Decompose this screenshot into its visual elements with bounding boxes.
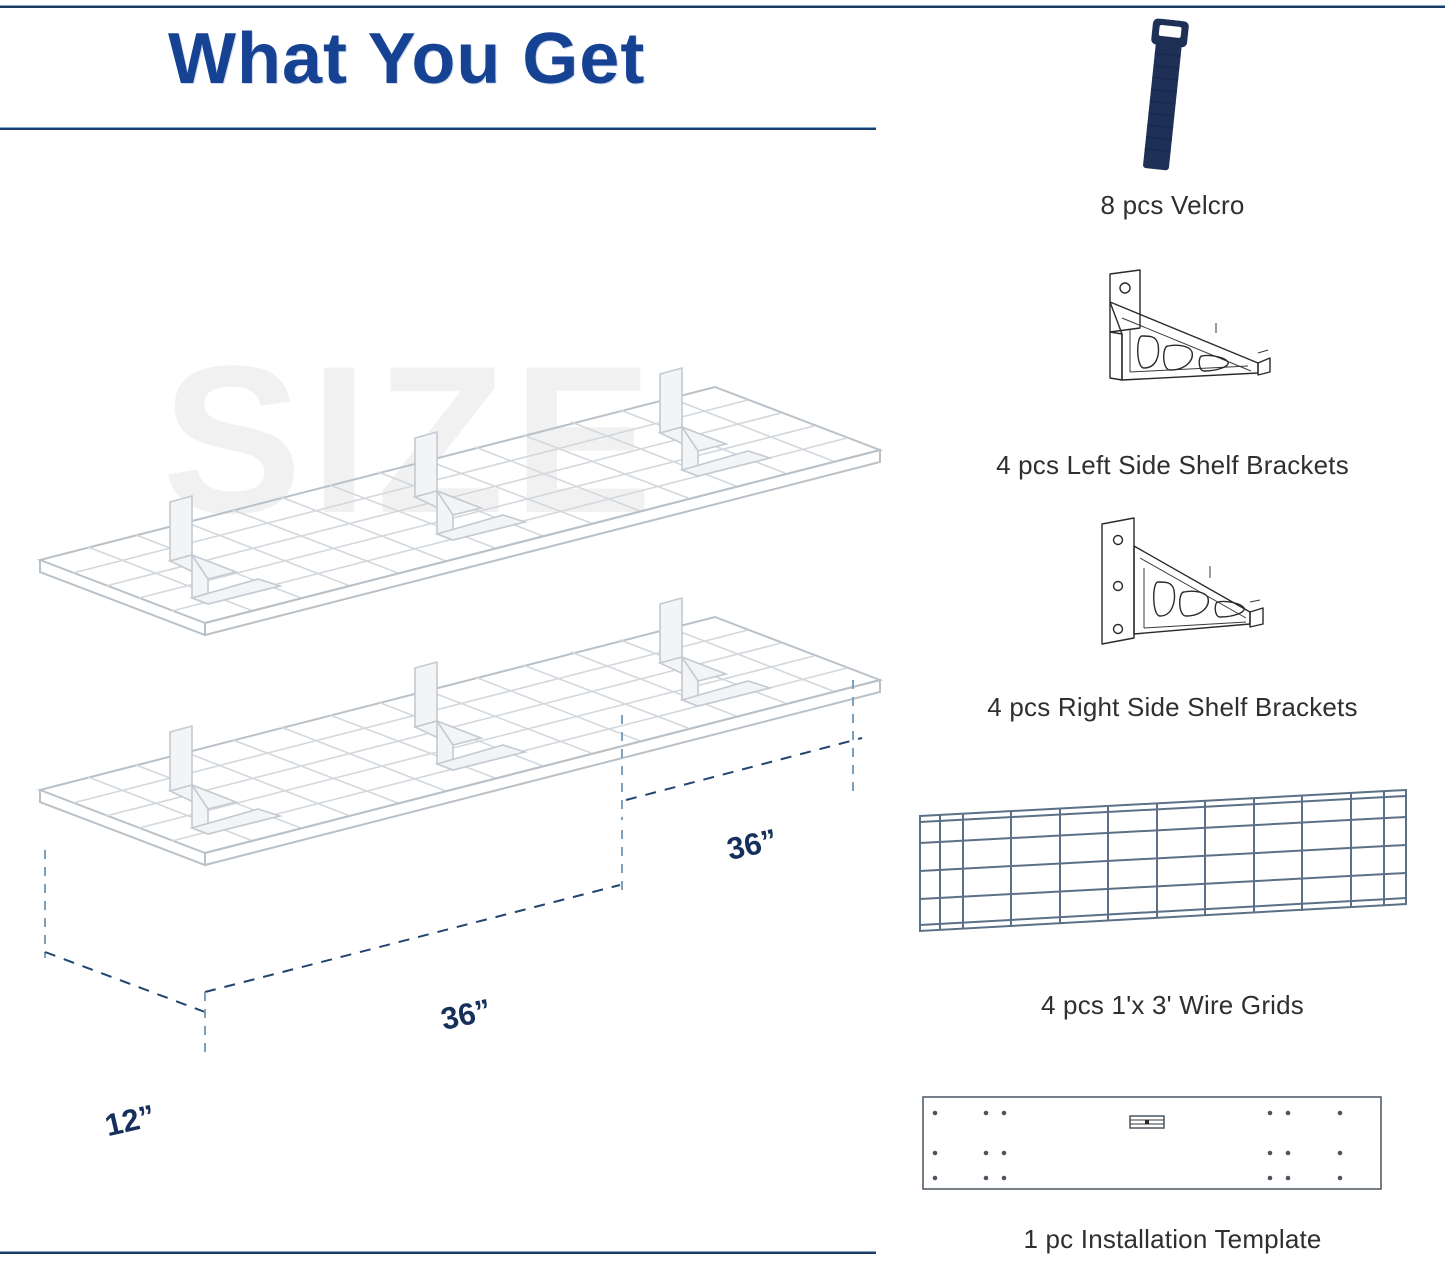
part-caption: 1 pc Installation Template bbox=[900, 1224, 1445, 1255]
part-caption: 4 pcs Right Side Shelf Brackets bbox=[900, 692, 1445, 723]
right-bracket-art bbox=[900, 512, 1445, 662]
right-shelf-bracket-icon bbox=[900, 512, 1445, 662]
installation-template-art bbox=[900, 1092, 1445, 1192]
upper-shelf bbox=[40, 368, 880, 635]
velcro-art bbox=[900, 14, 1445, 184]
wire-grid-art bbox=[900, 782, 1445, 962]
page-title: What You Get bbox=[168, 18, 645, 101]
part-caption: 8 pcs Velcro bbox=[900, 190, 1445, 221]
part-item-right-bracket: 4 pcs Right Side Shelf Brackets bbox=[900, 512, 1445, 723]
installation-template-icon bbox=[900, 1092, 1445, 1192]
part-item-wire-grid: 4 pcs 1'x 3' Wire Grids bbox=[900, 782, 1445, 1021]
title-divider-rule bbox=[0, 127, 876, 130]
hero-size-illustration: SIZE bbox=[0, 140, 900, 1240]
part-item-velcro: 8 pcs Velcro bbox=[900, 14, 1445, 221]
lower-shelf bbox=[40, 598, 880, 865]
part-item-left-bracket: 4 pcs Left Side Shelf Brackets bbox=[900, 262, 1445, 481]
part-caption: 4 pcs 1'x 3' Wire Grids bbox=[900, 990, 1445, 1021]
infographic-page: What You Get SIZE bbox=[0, 0, 1445, 1273]
velcro-strap-icon bbox=[900, 14, 1445, 184]
parts-list: 8 pcs Velcro bbox=[900, 0, 1445, 1273]
bottom-divider-rule bbox=[0, 1251, 876, 1254]
part-item-installation-template: 1 pc Installation Template bbox=[900, 1092, 1445, 1255]
wire-shelf-drawing bbox=[0, 140, 900, 1240]
left-shelf-bracket-icon bbox=[900, 262, 1445, 422]
wire-grid-icon bbox=[900, 782, 1445, 962]
left-bracket-art bbox=[900, 262, 1445, 422]
part-caption: 4 pcs Left Side Shelf Brackets bbox=[900, 450, 1445, 481]
